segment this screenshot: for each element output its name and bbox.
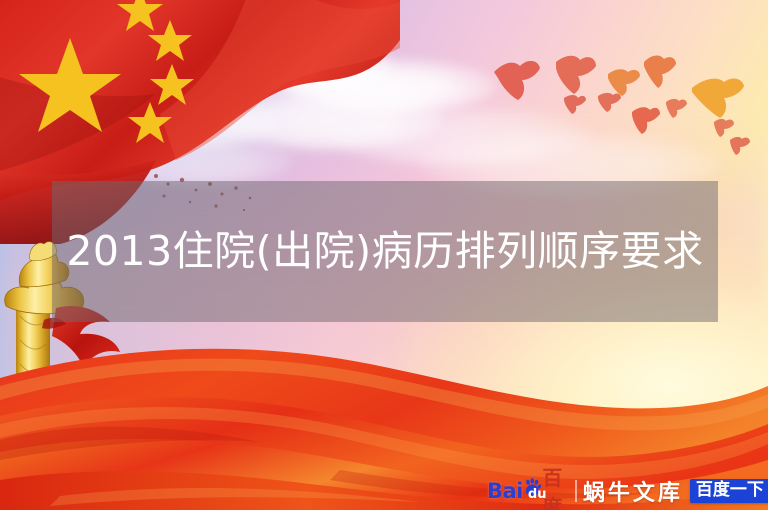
baidu-chinese-text: 百度 xyxy=(542,462,569,510)
baidu-logo[interactable]: Bai du 百度 xyxy=(487,477,569,505)
baidu-latin-text: Bai xyxy=(487,479,523,503)
watermark-bar: Bai du 百度 蜗牛文库 百度一下 xyxy=(487,476,768,506)
poster-canvas: 2013住院(出院)病历排列顺序要求 Bai du 百度 蜗牛文库 百度一下 xyxy=(0,0,768,510)
baidu-du-label: du xyxy=(528,487,547,502)
baidu-paw-icon: du xyxy=(523,478,541,504)
site-name-label: 蜗牛文库 xyxy=(583,475,683,507)
watermark-divider xyxy=(575,480,577,502)
page-title: 2013住院(出院)病历排列顺序要求 xyxy=(52,181,718,322)
flying-doves xyxy=(480,44,768,164)
baidu-search-button[interactable]: 百度一下 xyxy=(690,479,768,503)
